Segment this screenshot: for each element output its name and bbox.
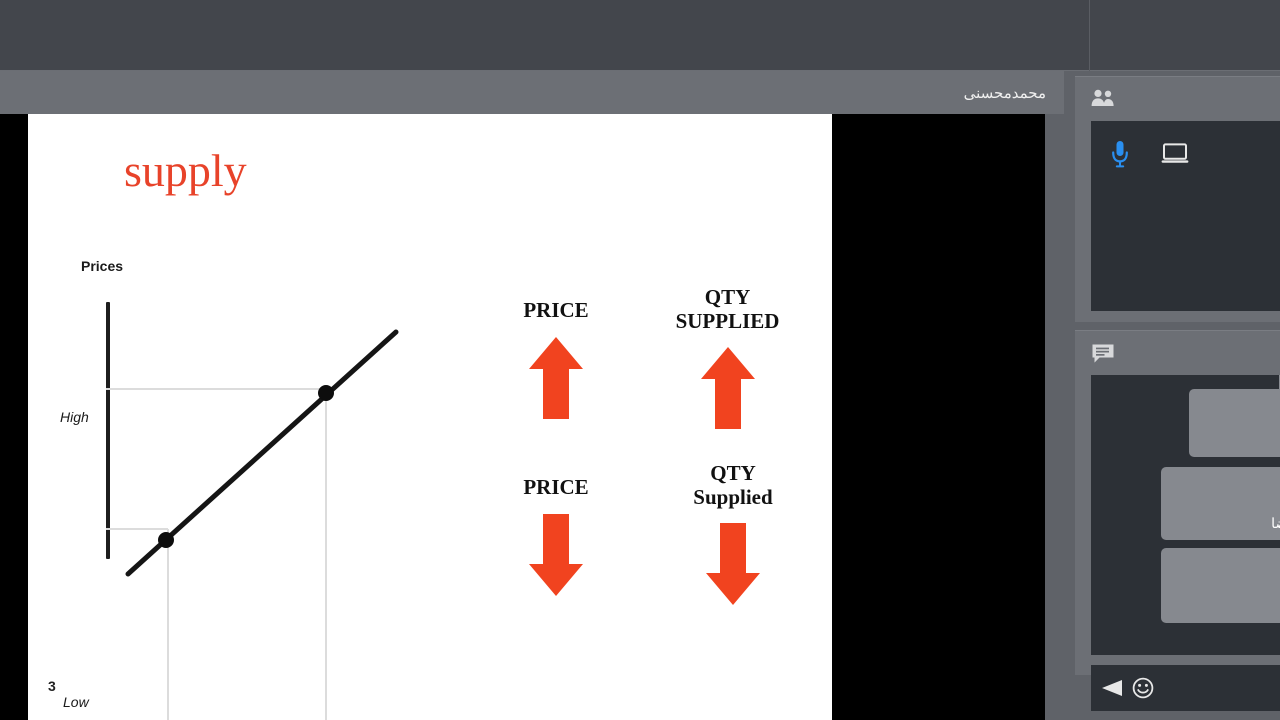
emoji-icon-wrapper[interactable]: [1132, 677, 1154, 704]
arrow-down-icon: [527, 512, 585, 598]
participants-panel: [1075, 76, 1280, 322]
chat-input-bar[interactable]: [1091, 665, 1280, 711]
chat-message-list[interactable]: مصرف مقدار تقاضا ارد نمیشد: [1091, 375, 1280, 655]
presentation-slide[interactable]: supply Prices High Low Less More supply: [28, 114, 832, 720]
relation-qty-supplied-down: QTY Supplied: [653, 462, 813, 612]
send-icon-wrapper[interactable]: [1100, 678, 1124, 703]
y-tick-low: Low: [63, 694, 89, 710]
chat-message-text: مقدار تقاضا: [1271, 515, 1280, 532]
participant-video-tile[interactable]: [1091, 121, 1280, 311]
chat-panel-header[interactable]: [1075, 331, 1280, 375]
relation-caption: PRICE: [476, 476, 636, 500]
data-point-high: [318, 385, 334, 401]
chat-message[interactable]: ارد نمیشد: [1161, 548, 1280, 623]
slide-number: 3: [48, 678, 56, 694]
relation-qty-supplied-up: QTY SUPPLIED: [640, 286, 815, 436]
shared-screen-stage[interactable]: supply Prices High Low Less More supply: [0, 114, 1045, 720]
arrow-up-icon: [527, 335, 585, 421]
presenter-name: محمدمحسنی: [964, 84, 1046, 102]
data-point-low: [158, 532, 174, 548]
slide-title: supply: [124, 144, 247, 197]
microphone-icon[interactable]: [1110, 140, 1130, 170]
send-icon[interactable]: [1100, 678, 1124, 698]
participants-panel-header[interactable]: [1075, 77, 1280, 121]
presenter-name-bar: محمدمحسنی: [0, 71, 1064, 114]
top-toolbar[interactable]: [0, 0, 1280, 71]
chat-panel: مصرف مقدار تقاضا ارد نمیشد: [1075, 330, 1280, 675]
relation-price-down: PRICE: [476, 476, 636, 603]
right-sidebar: مصرف مقدار تقاضا ارد نمیشد: [1066, 71, 1280, 720]
laptop-screenshare-icon[interactable]: [1161, 143, 1189, 165]
people-icon[interactable]: [1091, 89, 1115, 107]
relation-price-up: PRICE: [476, 299, 636, 426]
supply-curve-svg: [48, 234, 468, 654]
relation-caption: PRICE: [476, 299, 636, 323]
chat-message[interactable]: مصرف: [1189, 389, 1280, 457]
arrow-down-icon: [704, 521, 762, 607]
supply-chart: Prices High Low Less More supply: [48, 234, 468, 654]
chat-message[interactable]: مقدار تقاضا: [1161, 467, 1280, 540]
meeting-window: محمدمحسنی supply Prices High Low Less Mo…: [0, 0, 1280, 720]
chat-bubble-icon[interactable]: [1091, 343, 1115, 365]
relation-caption: QTY SUPPLIED: [640, 286, 815, 333]
arrow-up-icon: [699, 345, 757, 431]
emoji-smiley-icon[interactable]: [1132, 677, 1154, 699]
toolbar-divider: [1089, 0, 1090, 71]
relation-caption: QTY Supplied: [653, 462, 813, 509]
